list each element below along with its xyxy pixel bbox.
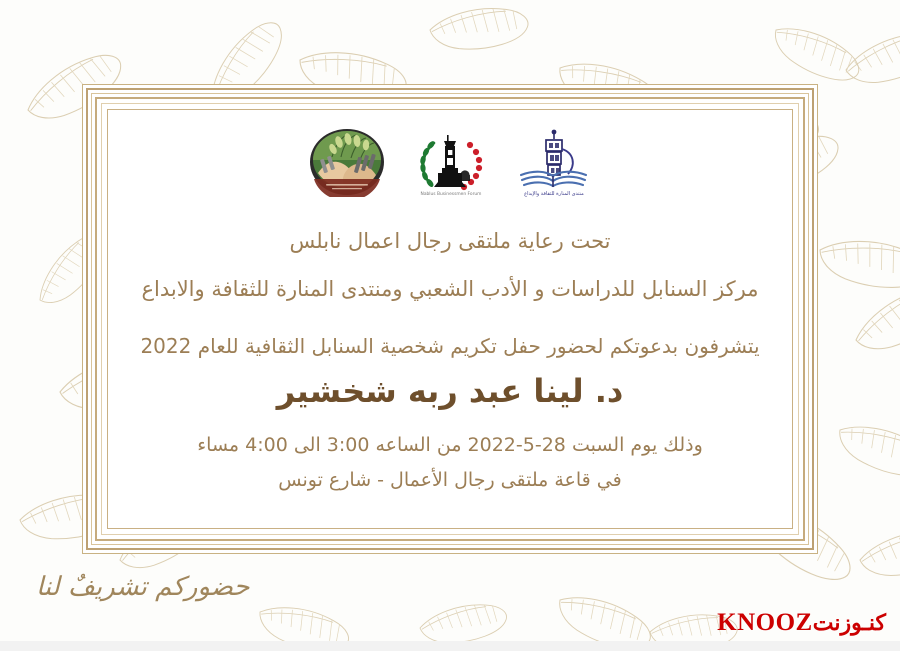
- invitation-card: Nablus Businessmen Forum: [0, 0, 900, 651]
- watermark-latin-text: KNOOZ: [717, 609, 813, 637]
- venue-line: في قاعة ملتقى رجال الأعمال - شارع تونس: [113, 469, 787, 491]
- invitation-line: يتشرفون بدعوتكم لحضور حفل تكريم شخصية ال…: [113, 334, 787, 358]
- nablus-businessmen-forum-logo: Nablus Businessmen Forum: [414, 127, 488, 197]
- logo-row: Nablus Businessmen Forum: [113, 119, 787, 197]
- datetime-line: وذلك يوم السبت 28-5-2022 من الساعه 3:00 …: [113, 434, 787, 456]
- watermark: KNOOZ كنـوزنت: [717, 609, 886, 637]
- watermark-arabic-text: كنـوزنت: [813, 610, 886, 636]
- honoree-name: د. لينا عبد ربه شخشير: [113, 372, 787, 410]
- svg-text:Nablus Businessmen Forum: Nablus Businessmen Forum: [421, 191, 482, 197]
- card-content: Nablus Businessmen Forum: [113, 115, 787, 523]
- bottom-strip: [0, 641, 900, 651]
- sanabel-center-logo: [308, 127, 386, 197]
- ornate-gold-frame: Nablus Businessmen Forum: [82, 84, 818, 554]
- closing-note: حضوركم تشريفٌ لنا: [36, 572, 249, 602]
- patronage-line: تحت رعاية ملتقى رجال اعمال نابلس: [113, 229, 787, 253]
- organizers-line: مركز السنابل للدراسات و الأدب الشعبي ومن…: [113, 277, 787, 301]
- svg-text:منتدى المنارة للثقافة والإبداع: منتدى المنارة للثقافة والإبداع: [524, 191, 584, 197]
- manara-culture-forum-logo: منتدى المنارة للثقافة والإبداع: [516, 125, 592, 197]
